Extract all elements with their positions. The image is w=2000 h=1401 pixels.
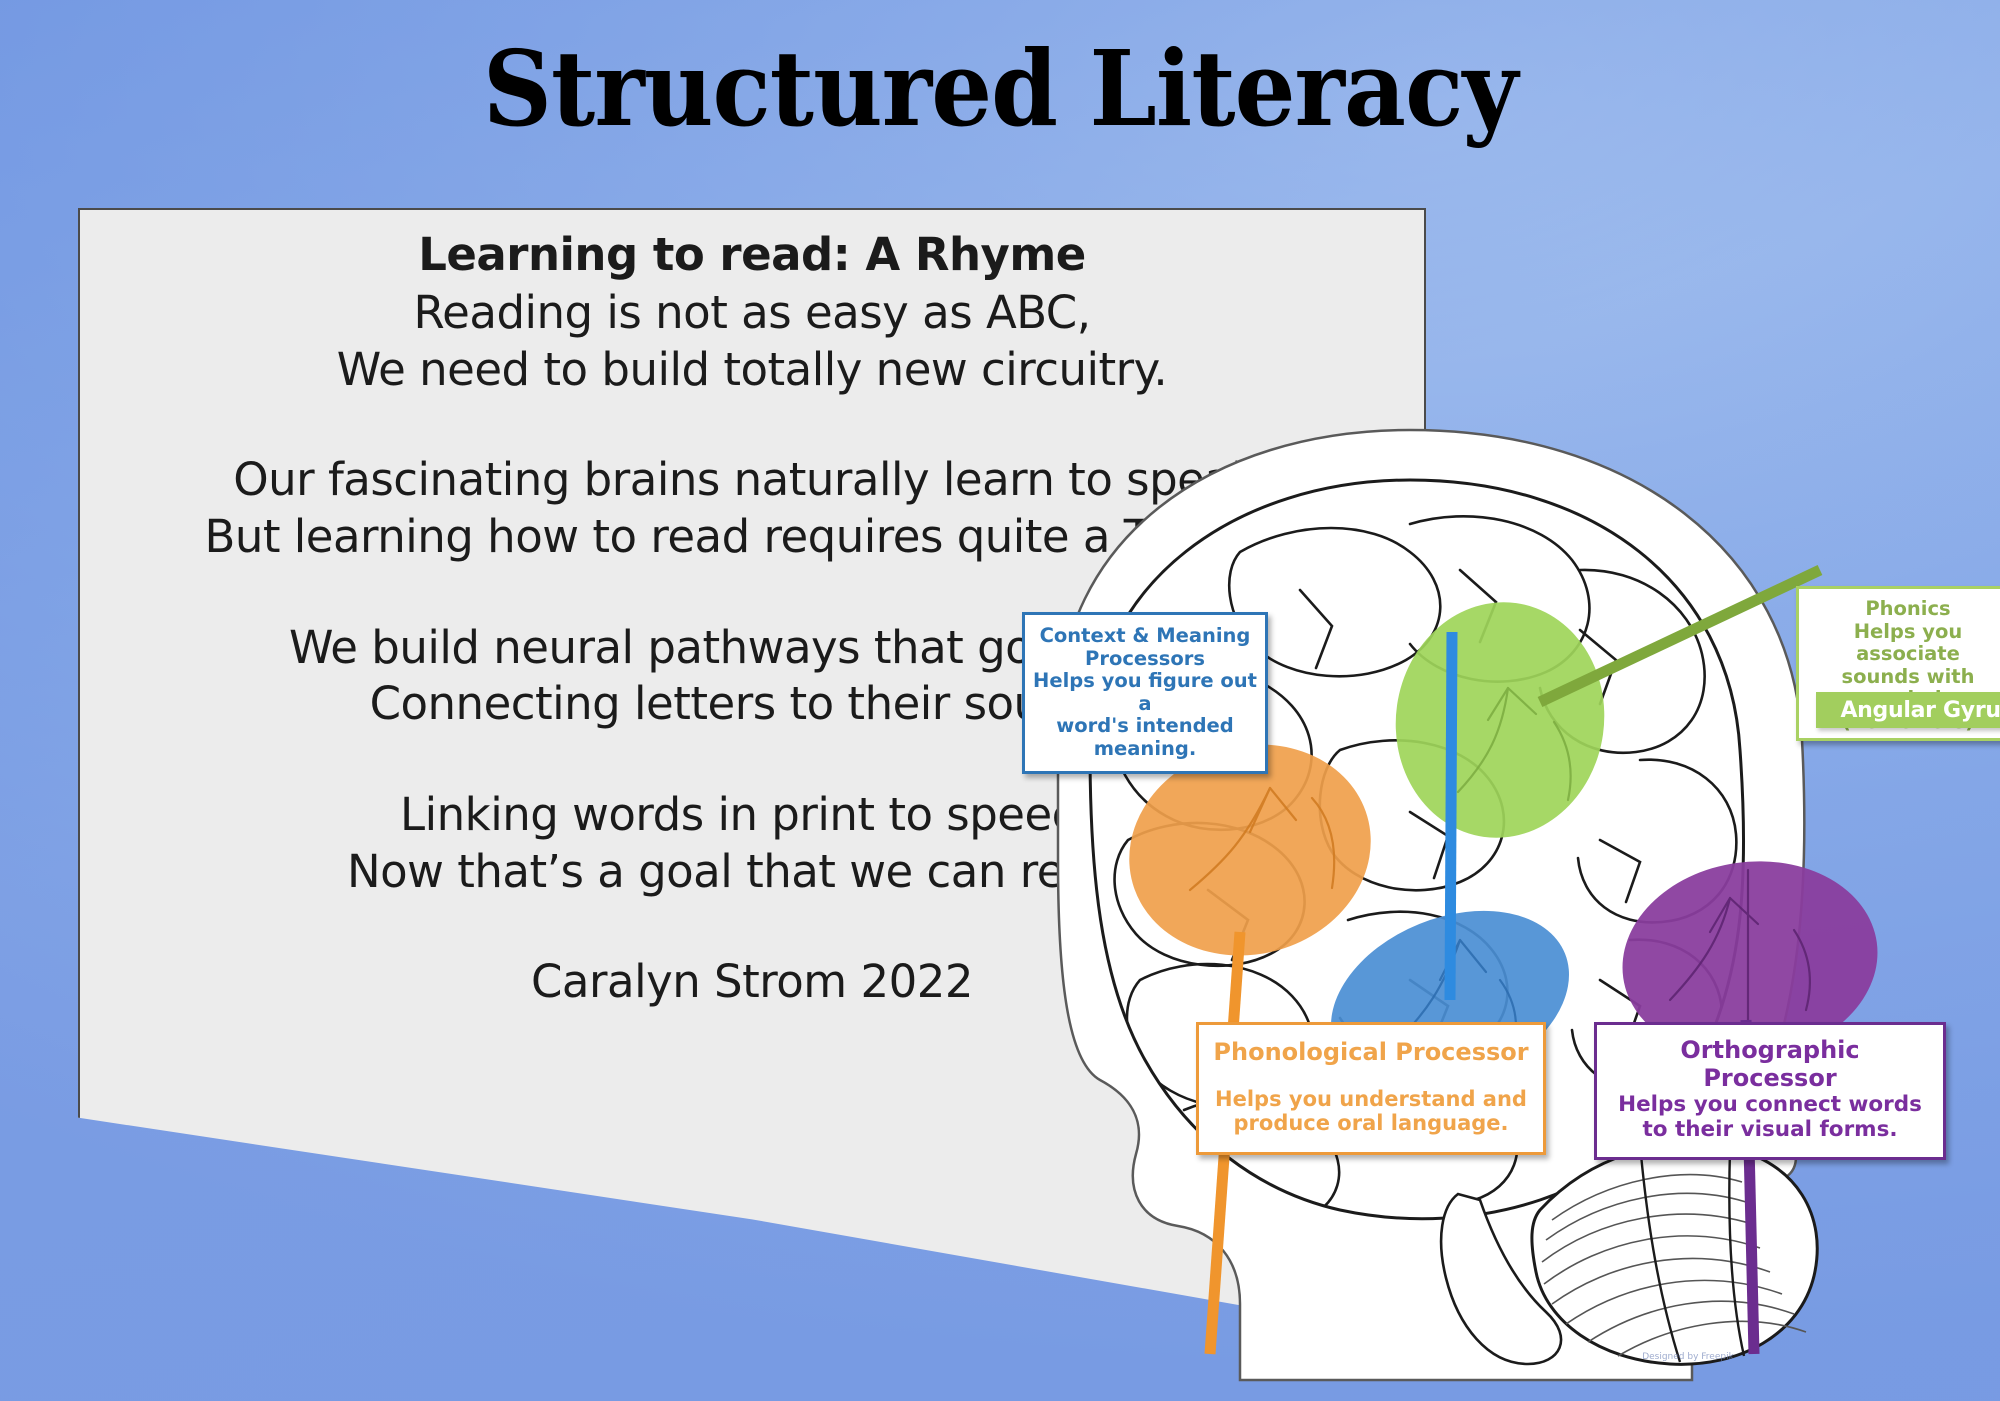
brain-diagram bbox=[940, 420, 2000, 1401]
callout-phonological-body-line1: Helps you understand and bbox=[1207, 1087, 1535, 1111]
page-title: Structured Literacy bbox=[80, 34, 1920, 143]
callout-phonological-body-line2: produce oral language. bbox=[1207, 1111, 1535, 1135]
callout-phonics-body-line1: Helps you associate bbox=[1805, 621, 2000, 666]
callout-context-title-line2: Processors bbox=[1031, 648, 1259, 671]
callout-orthographic-body-line1: Helps you connect words bbox=[1605, 1093, 1935, 1118]
poem-line-2: We need to build totally new circuitry. bbox=[337, 342, 1167, 399]
callout-phonological-title: Phonological Processor bbox=[1207, 1039, 1535, 1067]
poem-line-1: Reading is not as easy as ABC, bbox=[413, 285, 1090, 342]
callout-orthographic-body-line2: to their visual forms. bbox=[1605, 1118, 1935, 1143]
poem-heading: Learning to read: A Rhyme bbox=[418, 228, 1086, 281]
callout-context-meaning[interactable]: Context & Meaning Processors Helps you f… bbox=[1022, 612, 1268, 774]
callout-orthographic-processor[interactable]: Orthographic Processor Helps you connect… bbox=[1594, 1022, 1946, 1160]
pointer-line-blue bbox=[1450, 632, 1452, 1000]
callout-orthographic-title-line1: Orthographic bbox=[1605, 1037, 1935, 1065]
callout-context-body-line1: Helps you figure out a bbox=[1031, 670, 1259, 715]
diagram-watermark: Designed by Freepik bbox=[1598, 1352, 1778, 1362]
callout-context-title-line1: Context & Meaning bbox=[1031, 625, 1259, 648]
callout-context-body-line2: word's intended meaning. bbox=[1031, 715, 1259, 760]
callout-orthographic-title-line2: Processor bbox=[1605, 1065, 1935, 1093]
slide-canvas: Structured Literacy Learning to read: A … bbox=[0, 0, 2000, 1401]
callout-phonological-processor[interactable]: Phonological Processor Helps you underst… bbox=[1196, 1022, 1546, 1155]
angular-gyrus-banner[interactable]: Angular Gyrus bbox=[1816, 692, 2000, 728]
poem-author: Caralyn Strom 2022 bbox=[531, 955, 973, 1008]
callout-phonics-title: Phonics bbox=[1805, 598, 2000, 621]
